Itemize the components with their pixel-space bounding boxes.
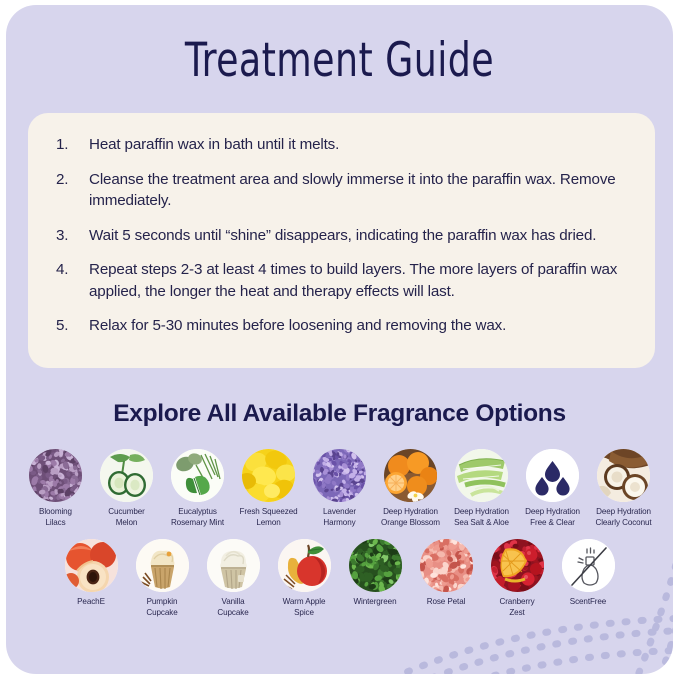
coconut-icon [597,449,650,502]
fragrance-option[interactable]: Eucalyptus Rosemary Mint [162,449,233,528]
fragrance-option[interactable]: Wintergreen [340,539,411,618]
step-text: Heat paraffin wax in bath until it melts… [89,136,339,153]
fragrance-option[interactable]: ScentFree [553,539,624,618]
fragrance-label: Warm Apple Spice [283,597,326,618]
fragrance-row-1: Blooming Lilacs Cucumber Melon Eucalyptu… [6,449,673,528]
treatment-guide-card: Treatment Guide 1. Heat paraffin wax in … [6,5,673,674]
fragrance-row-2: PeachE Pumpkin Cupcake Vanilla Cupcake W… [6,539,673,618]
fragrance-option[interactable]: Pumpkin Cupcake [127,539,198,618]
step-text: Relax for 5-30 minutes before loosening … [89,317,506,334]
instruction-step: 3. Wait 5 seconds until “shine” disappea… [56,225,637,247]
fragrance-option[interactable]: Warm Apple Spice [269,539,340,618]
fragrance-label: Cucumber Melon [108,507,145,528]
step-number: 3. [56,225,80,247]
fragrance-option[interactable]: PeachE [56,539,127,618]
fragrance-label: Deep Hydration Sea Salt & Aloe [454,507,509,528]
fragrance-option[interactable]: Lavender Harmony [304,449,375,528]
instruction-step: 1. Heat paraffin wax in bath until it me… [56,134,637,156]
fragrance-option[interactable]: Deep Hydration Free & Clear [517,449,588,528]
fragrance-label: Deep Hydration Clearly Coconut [595,507,651,528]
fragrance-label: Deep Hydration Orange Blossom [381,507,440,528]
fragrance-label: Rose Petal [427,597,466,608]
fragrance-label: PeachE [77,597,105,608]
water-droplets-icon [526,449,579,502]
fragrance-option[interactable]: Blooming Lilacs [20,449,91,528]
fragrance-section-heading: Explore All Available Fragrance Options [6,400,673,428]
lilacs-icon [29,449,82,502]
sea-salt-aloe-icon [455,449,508,502]
lemon-icon [242,449,295,502]
rose-petal-icon [420,539,473,592]
step-number: 4. [56,259,80,281]
step-text: Wait 5 seconds until “shine” disappears,… [89,227,596,244]
instruction-steps-list: 1. Heat paraffin wax in bath until it me… [28,113,655,337]
cucumber-melon-icon [100,449,153,502]
fragrance-option[interactable]: Vanilla Cupcake [198,539,269,618]
orange-blossom-icon [384,449,437,502]
instructions-panel: 1. Heat paraffin wax in bath until it me… [28,113,655,368]
fragrance-label: Pumpkin Cupcake [146,597,177,618]
apple-spice-icon [278,539,331,592]
instruction-step: 4. Repeat steps 2-3 at least 4 times to … [56,259,637,302]
peach-icon [65,539,118,592]
instruction-step: 5. Relax for 5-30 minutes before looseni… [56,315,637,337]
wintergreen-icon [349,539,402,592]
step-number: 5. [56,315,80,337]
fragrance-label: ScentFree [570,597,606,608]
fragrance-label: Wintergreen [354,597,397,608]
fragrance-option[interactable]: Deep Hydration Sea Salt & Aloe [446,449,517,528]
pumpkin-cupcake-icon [136,539,189,592]
step-number: 1. [56,134,80,156]
page-title: Treatment Guide [53,37,627,84]
step-number: 2. [56,169,80,191]
fragrance-option[interactable]: Cucumber Melon [91,449,162,528]
fragrance-label: Fresh Squeezed Lemon [240,507,298,528]
fragrance-option[interactable]: Rose Petal [411,539,482,618]
fragrance-option[interactable]: Deep Hydration Clearly Coconut [588,449,659,528]
fragrance-label: Lavender Harmony [323,507,356,528]
fragrance-option[interactable]: Cranberry Zest [482,539,553,618]
fragrance-label: Blooming Lilacs [39,507,72,528]
step-text: Cleanse the treatment area and slowly im… [89,171,616,210]
lavender-icon [313,449,366,502]
step-text: Repeat steps 2-3 at least 4 times to bui… [89,261,617,300]
fragrance-label: Cranberry Zest [499,597,534,618]
fragrance-option[interactable]: Fresh Squeezed Lemon [233,449,304,528]
fragrance-label: Deep Hydration Free & Clear [525,507,580,528]
fragrance-label: Vanilla Cupcake [217,597,248,618]
scent-free-icon [562,539,615,592]
fragrance-option[interactable]: Deep Hydration Orange Blossom [375,449,446,528]
instruction-step: 2. Cleanse the treatment area and slowly… [56,169,637,212]
eucalyptus-rosemary-mint-icon [171,449,224,502]
vanilla-cupcake-icon [207,539,260,592]
cranberry-zest-icon [491,539,544,592]
fragrance-label: Eucalyptus Rosemary Mint [171,507,224,528]
